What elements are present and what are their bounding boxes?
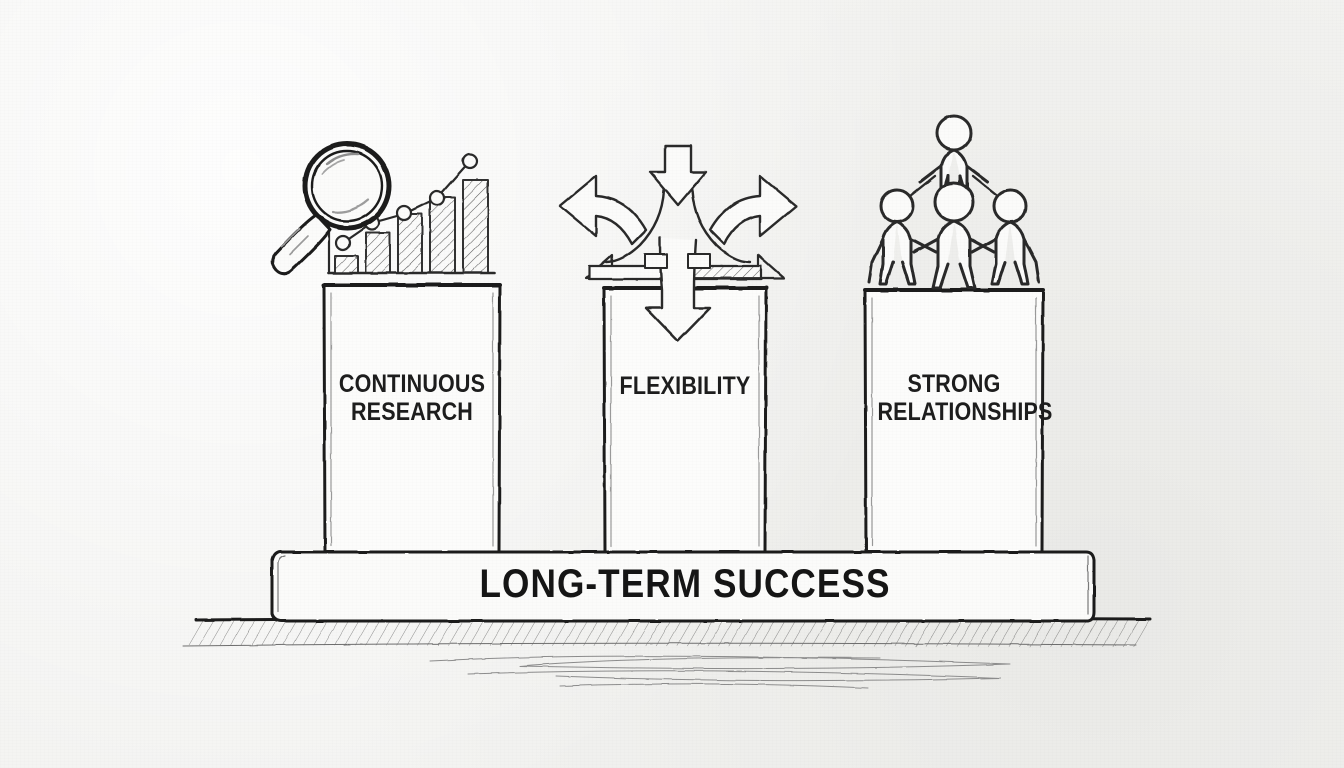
- ground-shadow-scribble: [430, 656, 1010, 688]
- magnifier-bar-chart-icon: [272, 144, 494, 274]
- pillar-3-label: STRONG RELATIONSHIPS: [877, 370, 1030, 426]
- people-group-icon: [869, 116, 1039, 288]
- hatched-ground-line: [182, 618, 1150, 647]
- base-slab-label: LONG-TERM SUCCESS: [333, 562, 1037, 607]
- pillar-1-label: CONTINUOUS RESEARCH: [336, 370, 487, 426]
- pillar-2-label: FLEXIBILITY: [615, 372, 754, 400]
- diagram-canvas: CONTINUOUS RESEARCH FLEXIBILITY STRONG R…: [0, 0, 1344, 768]
